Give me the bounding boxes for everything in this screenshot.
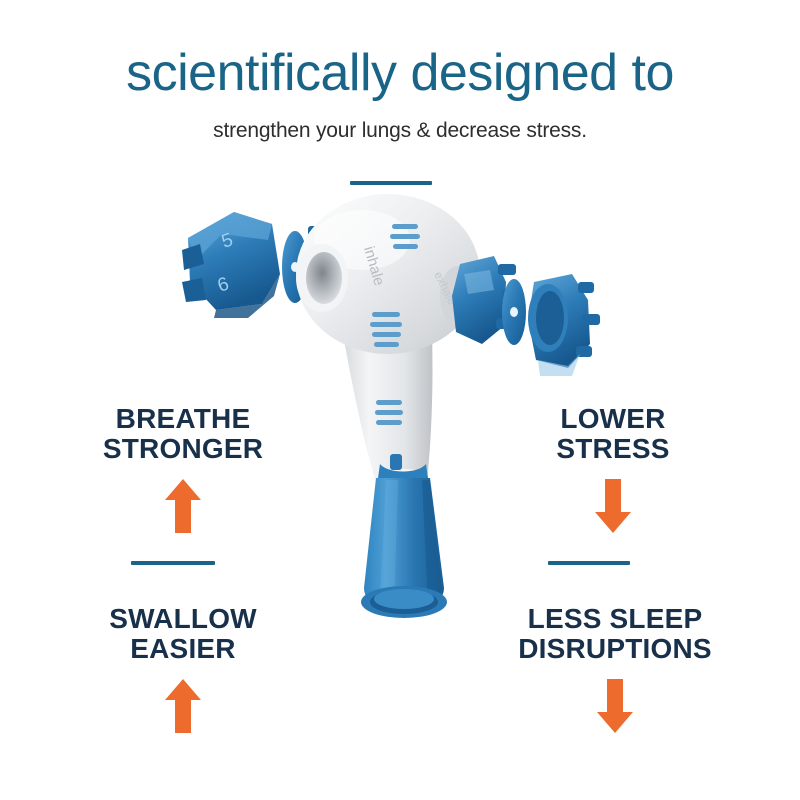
page-subtitle: strengthen your lungs & decrease stress. xyxy=(0,119,800,143)
benefit-label-less-sleep-disruptions: LESS SLEEP DISRUPTIONS xyxy=(470,604,760,664)
mouthpiece xyxy=(361,454,447,618)
up-arrow-icon xyxy=(164,478,202,534)
benefit-swallow-easier: SWALLOW EASIER xyxy=(52,604,314,734)
benefit-lower-stress: LOWER STRESS xyxy=(482,404,744,534)
vent-slots-top xyxy=(390,224,420,249)
left-dial-cap: 5 6 xyxy=(182,212,280,318)
benefit-less-sleep-disruptions: LESS SLEEP DISRUPTIONS xyxy=(470,604,760,734)
up-arrow-icon xyxy=(164,678,202,734)
device-body: inhale exhale xyxy=(296,194,480,508)
vent-slots-neck xyxy=(375,400,403,425)
down-arrow-icon xyxy=(594,478,632,534)
down-arrow-icon xyxy=(596,678,634,734)
right-cup-cap xyxy=(528,274,600,376)
right-disc-valve xyxy=(502,279,526,345)
page-title: scientifically designed to xyxy=(0,46,800,101)
infographic-page: scientifically designed to strengthen yo… xyxy=(0,0,800,800)
benefit-breathe-stronger: BREATHE STRONGER xyxy=(52,404,314,534)
benefit-label-breathe-stronger: BREATHE STRONGER xyxy=(52,404,314,464)
benefit-label-swallow-easier: SWALLOW EASIER xyxy=(52,604,314,664)
benefit-label-lower-stress: LOWER STRESS xyxy=(482,404,744,464)
